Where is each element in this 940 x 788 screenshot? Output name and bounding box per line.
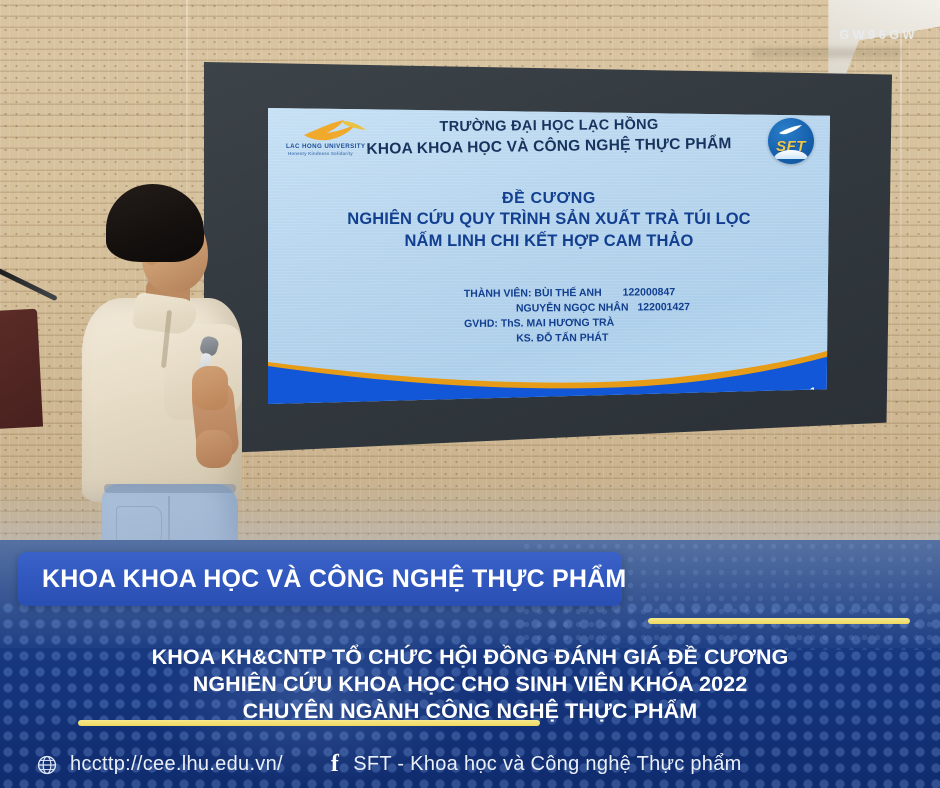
member-id: 122000847 (623, 285, 676, 300)
headline-line-2: NGHIÊN CỨU KHOA HỌC CHO SINH VIÊN KHÓA 2… (0, 671, 940, 698)
headline-line-1: KHOA KH&CNTP TỔ CHỨC HỘI ĐỒNG ĐÁNH GIÁ Đ… (0, 644, 940, 671)
slide-title-line-2: NGHIÊN CỨU QUY TRÌNH SẢN XUẤT TRÀ TÚI LỌ… (268, 210, 830, 229)
banner-footer: hccttp://cee.lhu.edu.vn/ f SFT - Khoa họ… (0, 751, 940, 778)
presentation-slide: LAC HONG UNIVERSITY Honesty Kindness Sol… (268, 108, 830, 404)
faculty-name-label: KHOA KHOA HỌC VÀ CÔNG NGHỆ THỰC PHẨM (18, 565, 626, 594)
website-item[interactable]: hccttp://cee.lhu.edu.vn/ (36, 753, 283, 776)
beam-shadow (752, 48, 902, 58)
member-row: NGUYỄN NGỌC NHÂN 122001427 (464, 300, 690, 317)
advisors-label: GVHD: (464, 318, 498, 330)
poster-image: GW96GW LAC HONG UNIVERSITY Honesty Kindn… (0, 0, 940, 788)
advisor-row: KS. ĐỖ TẤN PHÁT (464, 330, 690, 347)
slide-title-line-3: NẤM LINH CHI KẾT HỢP CAM THẢO (268, 232, 830, 251)
facebook-item[interactable]: f SFT - Khoa học và Công nghệ Thực phẩm (331, 751, 742, 778)
accent-bar-bottom (78, 720, 540, 726)
facebook-icon: f (331, 751, 339, 778)
member-name: NGUYỄN NGỌC NHÂN (516, 302, 629, 315)
banner-headline: KHOA KH&CNTP TỔ CHỨC HỘI ĐỒNG ĐÁNH GIÁ Đ… (0, 644, 940, 725)
members-label: THÀNH VIÊN: (464, 287, 532, 300)
accent-bar-top (648, 618, 910, 624)
globe-icon (36, 754, 58, 776)
facebook-page-name: SFT - Khoa học và Công nghệ Thực phẩm (353, 753, 741, 776)
event-photo: GW96GW LAC HONG UNIVERSITY Honesty Kindn… (0, 0, 940, 600)
advisor-name: ThS. MAI HƯƠNG TRÀ (501, 317, 614, 330)
faculty-name-badge: KHOA KHOA HỌC VÀ CÔNG NGHỆ THỰC PHẨM (18, 552, 622, 606)
slide-people-block: THÀNH VIÊN: BÙI THẾ ANH 122000847 NGUYỄN… (464, 285, 691, 347)
member-name: BÙI THẾ ANH (534, 287, 601, 300)
presenter-hand-lower (196, 430, 232, 468)
screen-watermark: GW96GW (839, 28, 918, 42)
podium (0, 309, 43, 430)
advisor-name: KS. ĐỖ TẤN PHÁT (516, 332, 608, 345)
presenter-hand-upper (192, 366, 228, 410)
member-id: 122001427 (637, 300, 690, 315)
website-url: hccttp://cee.lhu.edu.vn/ (70, 753, 283, 776)
presenter-hair (106, 184, 204, 262)
promo-banner: KHOA KHOA HỌC VÀ CÔNG NGHỆ THỰC PHẨM KHO… (0, 540, 940, 788)
slide-title-line-1: ĐỀ CƯƠNG (268, 190, 830, 208)
